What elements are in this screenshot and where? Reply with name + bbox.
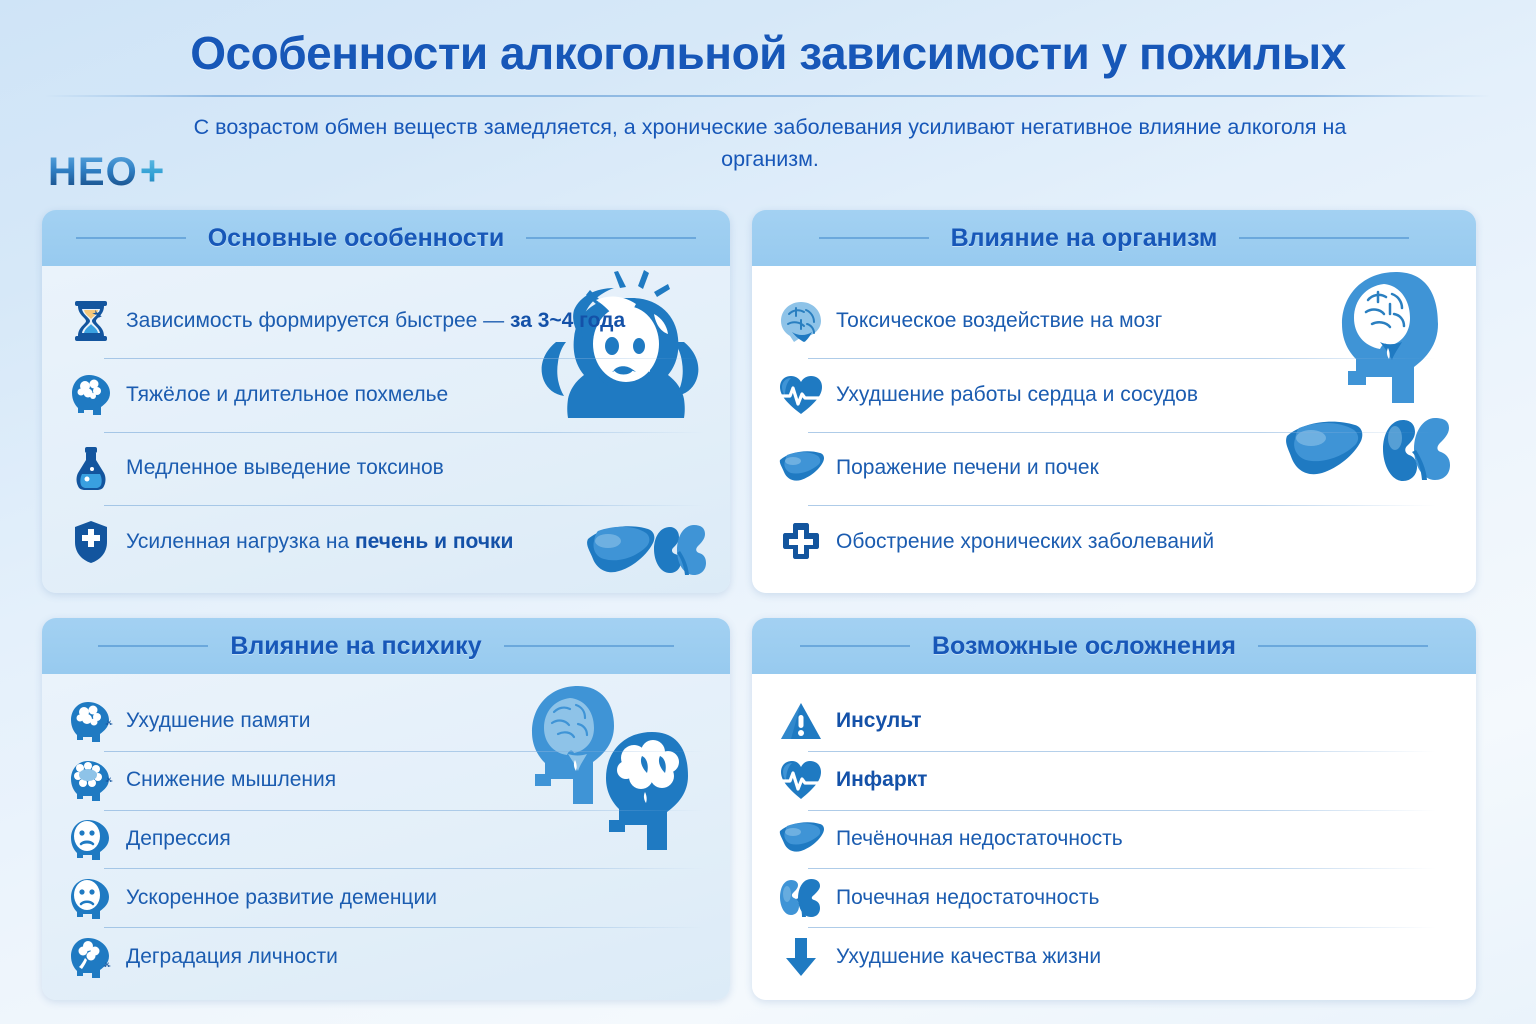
list-item-label: Инсульт xyxy=(836,709,922,733)
card-title: Влияние на психику xyxy=(208,632,503,661)
logo-wordmark: НЕО xyxy=(48,152,138,192)
list-item-label: Почечная недостаточность xyxy=(836,886,1099,910)
list-item[interactable]: Зависимость формируется быстрее — за 3~4… xyxy=(68,284,704,358)
card-item-list: Токсическое воздействие на мозг Ухудшени… xyxy=(778,284,1450,579)
card-body: Ухудшение памяти xyxy=(42,674,730,1000)
card-header: Основные особенности xyxy=(42,210,730,266)
list-item[interactable]: Ухудшение работы сердца и сосудов xyxy=(778,358,1450,432)
list-item[interactable]: Ускоренное развитие деменции xyxy=(68,868,704,927)
brand-logo: НЕО + xyxy=(48,148,164,192)
list-item[interactable]: Деградация личности xyxy=(68,927,704,986)
heart-pulse-icon xyxy=(778,757,824,803)
list-item[interactable]: Обострение хронических заболеваний xyxy=(778,505,1450,579)
card-title: Влияние на организм xyxy=(929,224,1240,253)
page-title: Особенности алкогольной зависимости у по… xyxy=(0,26,1536,80)
list-item[interactable]: Снижение мышления xyxy=(68,751,704,810)
header-rule-left xyxy=(819,237,929,239)
list-item-label: Печёночная недостаточность xyxy=(836,827,1123,851)
medical-cross-icon xyxy=(778,519,824,565)
head-dementia-icon xyxy=(68,875,114,921)
head-degradation-icon xyxy=(68,934,114,980)
warning-triangle-icon xyxy=(778,698,824,744)
list-item[interactable]: Ухудшение качества жизни xyxy=(778,927,1450,986)
header-rule-right xyxy=(526,237,696,239)
list-item-label: Медленное выведение токсинов xyxy=(126,456,444,480)
page-subtitle: С возрастом обмен веществ замедляется, а… xyxy=(190,112,1350,176)
card-header: Влияние на организм xyxy=(752,210,1476,266)
list-item[interactable]: Ухудшение памяти xyxy=(68,692,704,751)
list-item[interactable]: Депрессия xyxy=(68,810,704,869)
kidneys-icon xyxy=(778,875,824,921)
list-item[interactable]: Поражение печени и почек xyxy=(778,432,1450,506)
header-rule-left xyxy=(98,645,208,647)
header-divider xyxy=(45,95,1491,97)
card-vozmozhnye-oslozhneniya: Возможные осложнения Инсульт xyxy=(752,618,1476,1000)
card-header: Влияние на психику xyxy=(42,618,730,674)
card-title: Возможные осложнения xyxy=(910,632,1258,661)
list-item[interactable]: Инфаркт xyxy=(778,751,1450,810)
head-thinking-icon xyxy=(68,757,114,803)
page-header: Особенности алкогольной зависимости у по… xyxy=(0,0,1536,200)
brain-icon xyxy=(778,298,824,344)
card-body: Инсульт Инфаркт xyxy=(752,674,1476,1000)
list-item-label: Поражение печени и почек xyxy=(836,456,1099,480)
card-item-list: Инсульт Инфаркт xyxy=(778,692,1450,986)
list-item-label: Ускоренное развитие деменции xyxy=(126,886,437,910)
card-osnovnye-osobennosti: Основные особенности xyxy=(42,210,730,593)
card-header: Возможные осложнения xyxy=(752,618,1476,674)
flask-icon xyxy=(68,445,114,491)
header-rule-right xyxy=(1239,237,1409,239)
list-item[interactable]: Усиленная нагрузка на печень и почки xyxy=(68,505,704,579)
list-item-label: Зависимость формируется быстрее — за 3~4… xyxy=(126,309,625,333)
card-vliyanie-na-organizm: Влияние на организм xyxy=(752,210,1476,593)
header-rule-right xyxy=(1258,645,1428,647)
list-item-label: Ухудшение памяти xyxy=(126,709,311,733)
list-item-label: Усиленная нагрузка на печень и почки xyxy=(126,530,513,554)
shield-cross-icon xyxy=(68,519,114,565)
header-rule-left xyxy=(800,645,910,647)
head-sad-icon xyxy=(68,816,114,862)
list-item-label: Депрессия xyxy=(126,827,231,851)
heart-pulse-icon xyxy=(778,372,824,418)
list-item-label: Деградация личности xyxy=(126,945,338,969)
head-memory-icon xyxy=(68,698,114,744)
list-item-label: Токсическое воздействие на мозг xyxy=(836,309,1162,333)
hourglass-icon xyxy=(68,298,114,344)
logo-plus-icon: + xyxy=(140,150,165,192)
card-body: Токсическое воздействие на мозг Ухудшени… xyxy=(752,266,1476,593)
card-body: Зависимость формируется быстрее — за 3~4… xyxy=(42,266,730,593)
list-item-label: Инфаркт xyxy=(836,768,927,792)
card-title: Основные особенности xyxy=(186,224,527,253)
list-item-label: Ухудшение качества жизни xyxy=(836,945,1101,969)
list-item-label: Ухудшение работы сердца и сосудов xyxy=(836,383,1198,407)
list-item[interactable]: Почечная недостаточность xyxy=(778,868,1450,927)
head-brain-icon xyxy=(68,372,114,418)
card-item-list: Ухудшение памяти xyxy=(68,692,704,986)
list-item[interactable]: Токсическое воздействие на мозг xyxy=(778,284,1450,358)
liver-icon xyxy=(778,816,824,862)
down-arrow-icon xyxy=(778,934,824,980)
list-item[interactable]: Инсульт xyxy=(778,692,1450,751)
header-rule-left xyxy=(76,237,186,239)
list-item[interactable]: Печёночная недостаточность xyxy=(778,810,1450,869)
card-item-list: Зависимость формируется быстрее — за 3~4… xyxy=(68,284,704,579)
header-rule-right xyxy=(504,645,674,647)
list-item[interactable]: Тяжёлое и длительное похмелье xyxy=(68,358,704,432)
list-item[interactable]: Медленное выведение токсинов xyxy=(68,432,704,506)
card-vliyanie-na-psihiku: Влияние на психику xyxy=(42,618,730,1000)
list-item-label: Снижение мышления xyxy=(126,768,336,792)
list-item-label: Тяжёлое и длительное похмелье xyxy=(126,383,448,407)
liver-icon xyxy=(778,445,824,491)
list-item-label: Обострение хронических заболеваний xyxy=(836,530,1214,554)
